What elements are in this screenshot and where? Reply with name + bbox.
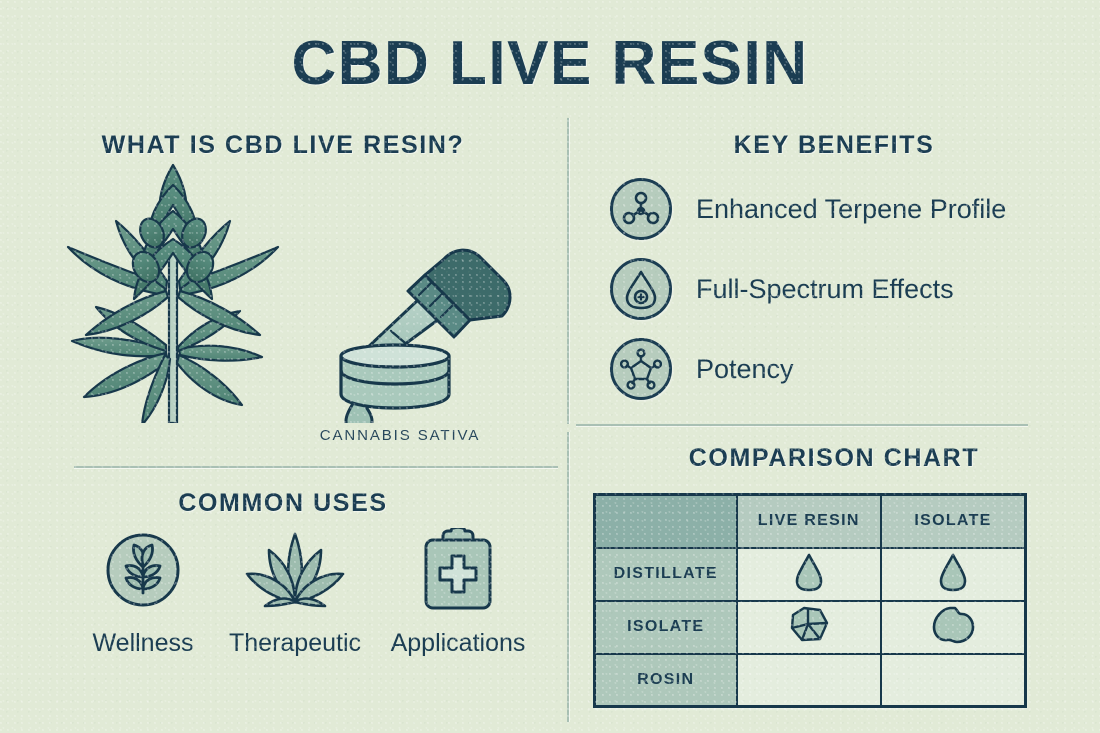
- table-cell-rosin-live-resin: [737, 654, 882, 707]
- use-item-wellness[interactable]: Wellness: [58, 527, 228, 658]
- benefit-label: Full-Spectrum Effects: [696, 274, 954, 305]
- divider-vertical-bottom: [567, 432, 569, 722]
- section-heading-comparison: COMPARISON CHART: [568, 444, 1100, 473]
- cannabis-leaf-icon: [210, 527, 380, 613]
- molecule-pentagon-icon: [610, 338, 672, 400]
- table-cell-isolate-live-resin: [737, 601, 882, 654]
- table-corner-cell: [595, 495, 737, 548]
- illustration-caption: CANNABIS SATIVA: [240, 427, 560, 444]
- table-row-header-rosin: ROSIN: [595, 654, 737, 707]
- use-item-applications[interactable]: Applications: [373, 527, 543, 658]
- benefit-item-terpene[interactable]: Enhanced Terpene Profile: [610, 178, 1006, 240]
- table-row-header-isolate: ISOLATE: [595, 601, 737, 654]
- benefit-item-full-spectrum[interactable]: Full-Spectrum Effects: [610, 258, 954, 320]
- divider-horizontal-right: [576, 424, 1028, 426]
- use-label: Therapeutic: [210, 629, 380, 658]
- use-item-therapeutic[interactable]: Therapeutic: [210, 527, 380, 658]
- blob-icon: [931, 606, 975, 644]
- extract-dish-icon: [333, 340, 463, 412]
- droplet-icon: [794, 552, 824, 592]
- droplet-icon: [938, 552, 968, 592]
- benefit-item-potency[interactable]: Potency: [610, 338, 794, 400]
- page-title: CBD LIVE RESIN: [0, 28, 1100, 99]
- sprout-circle-icon: [58, 527, 228, 613]
- illustration-svg: [66, 163, 566, 423]
- use-label: Applications: [373, 629, 543, 658]
- table-header-row: LIVE RESIN ISOLATE: [595, 495, 1026, 548]
- table-row: DISTILLATE: [595, 548, 1026, 601]
- table-row: ROSIN: [595, 654, 1026, 707]
- crystal-icon: [789, 606, 829, 644]
- section-heading-common-uses: COMMON USES: [0, 489, 566, 518]
- table-cell-distillate-isolate: [881, 548, 1026, 601]
- use-label: Wellness: [58, 629, 228, 658]
- table-row-header-distillate: DISTILLATE: [595, 548, 737, 601]
- table-cell-rosin-isolate: [881, 654, 1026, 707]
- benefit-label: Potency: [696, 354, 794, 385]
- clipboard-medical-icon: [373, 527, 543, 613]
- section-heading-what-is: WHAT IS CBD LIVE RESIN?: [0, 131, 566, 160]
- divider-horizontal-left: [74, 466, 558, 468]
- what-is-illustration: [66, 163, 566, 423]
- table-cell-distillate-live-resin: [737, 548, 882, 601]
- divider-vertical-top: [567, 118, 569, 424]
- table-cell-isolate-isolate: [881, 601, 1026, 654]
- comparison-table: LIVE RESIN ISOLATE DISTILLATE ISOLATE: [593, 493, 1027, 708]
- table-column-header-live-resin: LIVE RESIN: [737, 495, 882, 548]
- droplet-plus-icon: [610, 258, 672, 320]
- table-row: ISOLATE: [595, 601, 1026, 654]
- table-column-header-isolate: ISOLATE: [881, 495, 1026, 548]
- section-heading-key-benefits: KEY BENEFITS: [568, 131, 1100, 160]
- molecule-tri-node-icon: [610, 178, 672, 240]
- cannabis-plant-icon: [68, 165, 278, 423]
- benefit-label: Enhanced Terpene Profile: [696, 194, 1006, 225]
